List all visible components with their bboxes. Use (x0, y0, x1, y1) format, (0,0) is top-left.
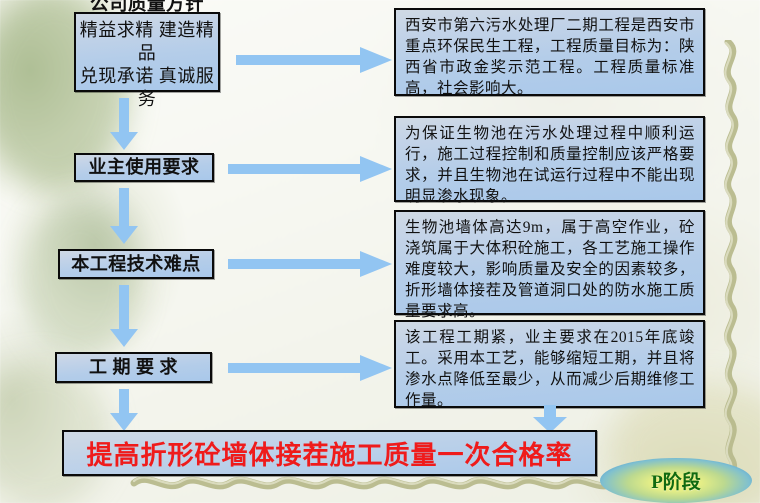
policy-line-3: 兑现承诺 真诚服务 (76, 65, 218, 111)
goal-banner[interactable]: 提高折形砼墙体接茬施工质量一次合格率 (62, 430, 597, 476)
schedule-requirement-label: 工 期 要 求 (89, 355, 178, 379)
owner-requirement-label: 业主使用要求 (89, 155, 200, 179)
flow-box-technical-difficulty[interactable]: 本工程技术难点 (58, 249, 214, 279)
flow-box-schedule-requirement[interactable]: 工 期 要 求 (55, 352, 212, 383)
stage-badge-label: P阶段 (651, 467, 701, 494)
slide-canvas: 公司质量方针 精益求精 建造精品 兑现承诺 真诚服务 业主使用要求 本工程技术难… (0, 0, 760, 503)
owner-detail-text: 为保证生物池在污水处理过程中顺利运行，施工过程控制和质量控制应该严格要求，并且生… (405, 123, 695, 207)
flow-box-policy[interactable]: 公司质量方针 精益求精 建造精品 兑现承诺 真诚服务 (74, 12, 220, 92)
goal-banner-text: 提高折形砼墙体接茬施工质量一次合格率 (86, 435, 572, 472)
technical-difficulty-label: 本工程技术难点 (71, 252, 201, 276)
flow-box-project-overview[interactable]: 西安市第六污水处理厂二期工程是西安市重点环保民生工程，工程质量目标为：陕西省市政… (394, 8, 705, 96)
difficulty-detail-text: 生物池墙体高达9m，属于高空作业，砼浇筑属于大体积砼施工，各工艺施工操作难度较大… (405, 217, 695, 322)
project-overview-text: 西安市第六污水处理厂二期工程是西安市重点环保民生工程，工程质量目标为：陕西省市政… (405, 15, 695, 99)
policy-title: 公司质量方针 (90, 0, 204, 18)
stage-badge[interactable]: P阶段 (600, 458, 752, 503)
schedule-detail-text: 该工程工期紧，业主要求在2015年底竣工。采用本工艺，能够缩短工期，并且将渗水点… (405, 327, 695, 411)
flow-box-difficulty-detail[interactable]: 生物池墙体高达9m，属于高空作业，砼浇筑属于大体积砼施工，各工艺施工操作难度较大… (394, 210, 705, 315)
flow-box-schedule-detail[interactable]: 该工程工期紧，业主要求在2015年底竣工。采用本工艺，能够缩短工期，并且将渗水点… (394, 320, 705, 408)
policy-line-2: 精益求精 建造精品 (76, 19, 218, 65)
flow-box-owner-requirement[interactable]: 业主使用要求 (74, 153, 214, 182)
flow-box-owner-detail[interactable]: 为保证生物池在污水处理过程中顺利运行，施工过程控制和质量控制应该严格要求，并且生… (394, 116, 705, 202)
